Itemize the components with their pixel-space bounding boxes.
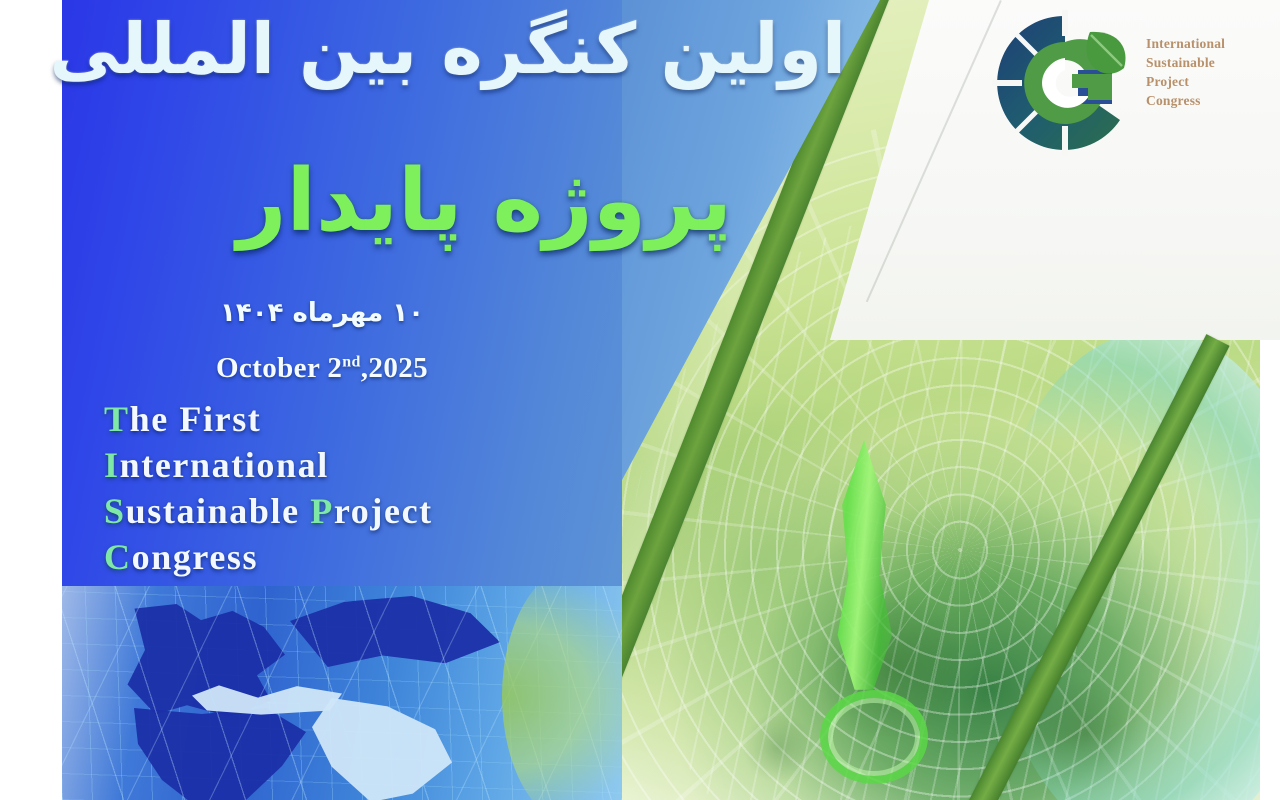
english-title-line2-rest: nternational [120,445,329,485]
english-date-ordinal: nd [342,353,361,370]
persian-date: ۱۰ مهرماه ۱۴۰۴ [62,298,582,328]
english-title-line1-initial: T [104,399,130,439]
logo-text-line1: International [1146,34,1258,53]
persian-title-line1: اولین کنگره بین المللی [62,6,874,93]
logo-mark-icon [990,8,1140,158]
english-title-line2-initial: I [104,445,120,485]
persian-title-line2: پروژه پایدار [62,150,762,253]
map-green-blend-edge [502,586,622,800]
english-title-line3-initial2: P [310,491,334,531]
english-title-line1-rest: he First [130,399,262,439]
world-map-panel [62,586,622,800]
logo-text-line3: Project [1146,72,1258,91]
seed-ring-icon [820,690,928,784]
logo-text-line2: Sustainable [1146,53,1258,72]
english-title-line3-rest2: roject [334,491,433,531]
logo-wordmark: International Sustainable Project Congre… [1146,34,1258,111]
english-title: The First International Sustainable Proj… [104,396,624,580]
english-title-line3: Sustainable Project [104,488,624,534]
english-title-line3-rest: ustainable [126,491,311,531]
english-title-line2: International [104,442,624,488]
english-title-line3-initial: S [104,491,126,531]
english-title-line1: The First [104,396,624,442]
english-title-line4: Congress [104,534,624,580]
english-title-line4-rest: ongress [132,537,259,577]
english-date: October 2nd,2025 [62,352,582,385]
english-date-text: October 2 [216,352,342,384]
congress-poster: اولین کنگره بین المللی پروژه پایدار ۱۰ م… [0,0,1280,800]
english-date-year: ,2025 [361,352,428,384]
english-title-line4-initial: C [104,537,132,577]
logo-text-line4: Congress [1146,91,1258,110]
congress-logo: International Sustainable Project Congre… [990,8,1260,158]
